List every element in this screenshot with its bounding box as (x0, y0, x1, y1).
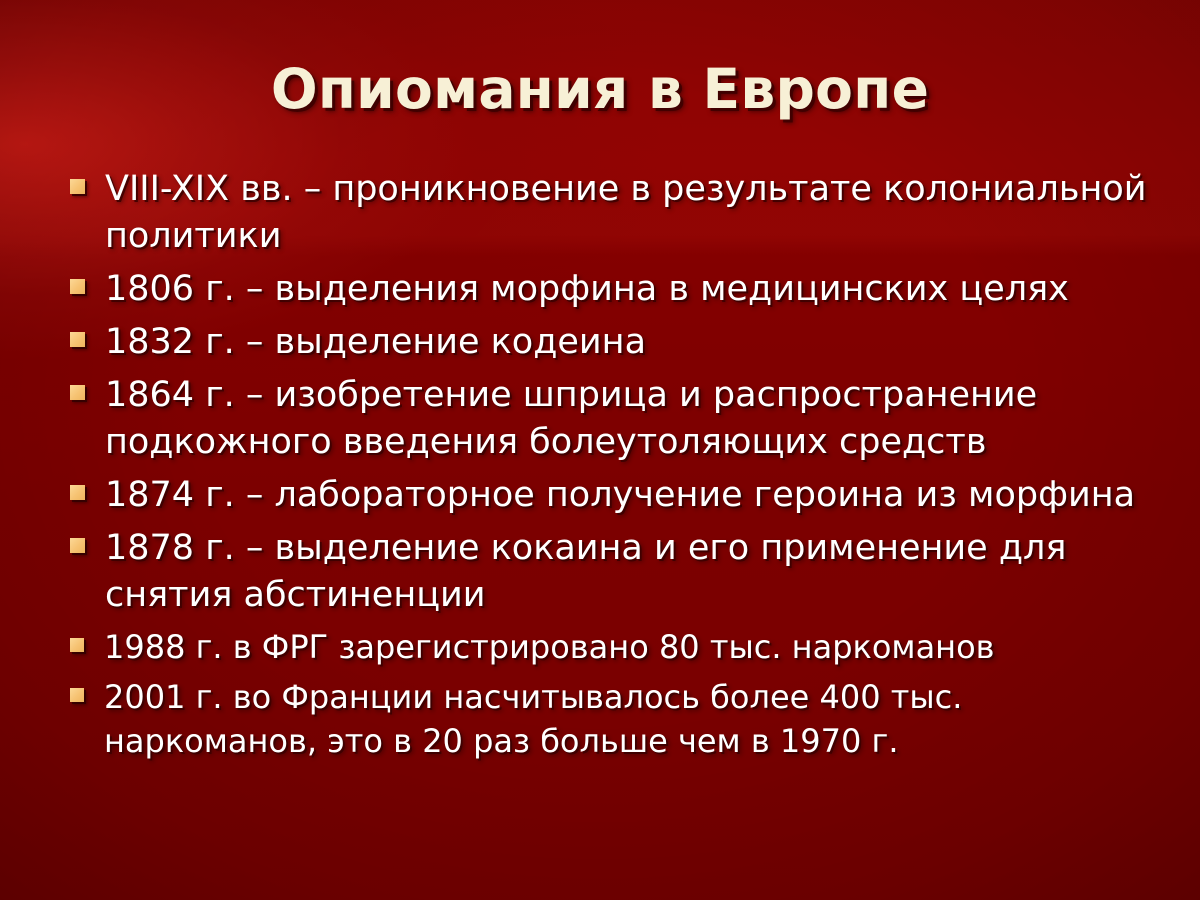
square-bullet-icon (70, 538, 85, 553)
slide-content: Опиомания в Европе VIII-XIX вв. – проник… (0, 0, 1200, 900)
bullet-item: 1874 г. – лабораторное получение героина… (70, 472, 1160, 519)
square-bullet-icon (70, 179, 85, 194)
square-bullet-icon (70, 332, 85, 347)
bullet-text: 1832 г. – выделение кодеина (105, 319, 1160, 366)
bullet-text: 1988 г. в ФРГ зарегистрировано 80 тыс. н… (104, 625, 1160, 669)
square-bullet-icon (70, 279, 85, 294)
bullet-text: 1864 г. – изобретение шприца и распростр… (105, 372, 1160, 466)
bullet-text: 1878 г. – выделение кокаина и его примен… (105, 525, 1160, 619)
bullet-text: 1806 г. – выделения морфина в медицински… (105, 266, 1160, 313)
bullet-item: 1878 г. – выделение кокаина и его примен… (70, 525, 1160, 619)
bullet-text: VIII-XIX вв. – проникновение в результат… (105, 166, 1160, 260)
bullet-item: 1832 г. – выделение кодеина (70, 319, 1160, 366)
square-bullet-icon (70, 485, 85, 500)
bullet-text: 2001 г. во Франции насчитывалось более 4… (104, 675, 1160, 763)
square-bullet-icon (70, 385, 85, 400)
bullet-item: 2001 г. во Франции насчитывалось более 4… (70, 675, 1160, 763)
presentation-slide: Опиомания в Европе VIII-XIX вв. – проник… (0, 0, 1200, 900)
bullet-item: 1864 г. – изобретение шприца и распростр… (70, 372, 1160, 466)
bullet-list: VIII-XIX вв. – проникновение в результат… (70, 166, 1160, 769)
bullet-item: 1988 г. в ФРГ зарегистрировано 80 тыс. н… (70, 625, 1160, 669)
bullet-item: VIII-XIX вв. – проникновение в результат… (70, 166, 1160, 260)
square-bullet-icon (70, 688, 84, 702)
bullet-item: 1806 г. – выделения морфина в медицински… (70, 266, 1160, 313)
bullet-text: 1874 г. – лабораторное получение героина… (105, 472, 1160, 519)
square-bullet-icon (70, 638, 84, 652)
slide-title: Опиомания в Европе (0, 57, 1200, 121)
